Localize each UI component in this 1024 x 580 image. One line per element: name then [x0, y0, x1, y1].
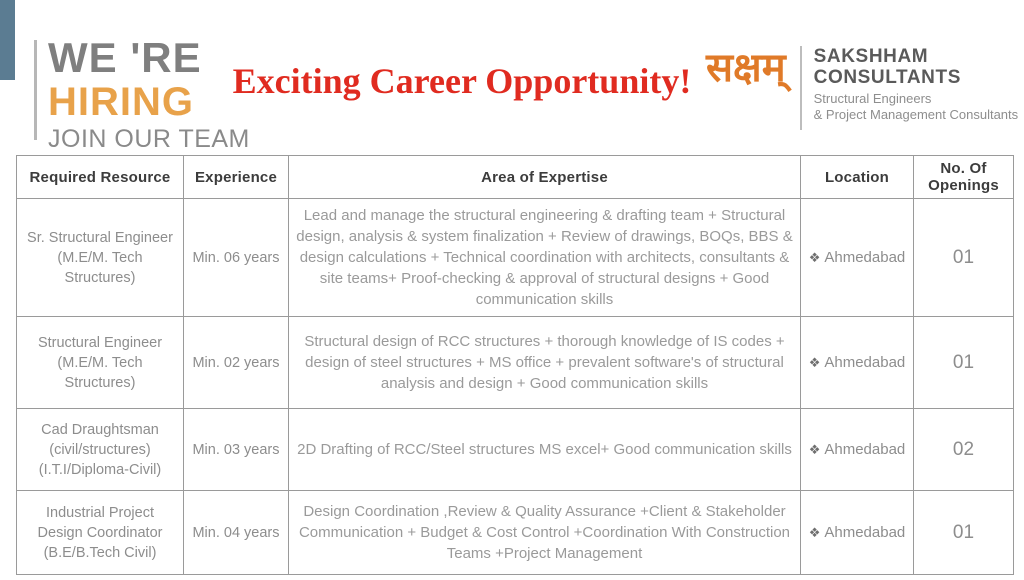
cell-location: ❖Ahmedabad: [801, 491, 914, 575]
diamond-bullet-icon: ❖: [809, 442, 821, 457]
table-header-row: Required Resource Experience Area of Exp…: [17, 156, 1014, 199]
table-row: Sr. Structural Engineer (M.E/M. Tech Str…: [17, 199, 1014, 317]
cell-location: ❖Ahmedabad: [801, 409, 914, 491]
company-name-line1: SAKSHHAM: [814, 46, 1019, 67]
banner-line-join-our-team: JOIN OUR TEAM: [48, 124, 334, 154]
cell-openings: 01: [914, 199, 1014, 317]
logo-text-block: SAKSHHAM CONSULTANTS Structural Engineer…: [814, 44, 1019, 123]
company-tagline-line1: Structural Engineers: [814, 91, 1019, 107]
column-header-location: Location: [801, 156, 914, 199]
cell-required-resource: Cad Draughtsman (civil/structures) (I.T.…: [17, 409, 184, 491]
column-header-area-of-expertise: Area of Expertise: [289, 156, 801, 199]
cell-required-resource: Industrial Project Design Coordinator (B…: [17, 491, 184, 575]
cell-openings: 02: [914, 409, 1014, 491]
diamond-bullet-icon: ❖: [809, 525, 821, 540]
column-header-no-of-openings: No. Of Openings: [914, 156, 1014, 199]
cell-openings: 01: [914, 491, 1014, 575]
column-header-experience: Experience: [184, 156, 289, 199]
company-tagline-line2: & Project Management Consultants: [814, 107, 1019, 123]
table-row: Industrial Project Design Coordinator (B…: [17, 491, 1014, 575]
company-logo: सक्षम् SAKSHHAM CONSULTANTS Structural E…: [706, 44, 1018, 130]
cell-location: ❖Ahmedabad: [801, 317, 914, 409]
cell-required-resource: Structural Engineer (M.E/M. Tech Structu…: [17, 317, 184, 409]
diamond-bullet-icon: ❖: [809, 355, 821, 370]
logo-divider: [800, 46, 802, 130]
cell-experience: Min. 02 years: [184, 317, 289, 409]
cell-required-resource: Sr. Structural Engineer (M.E/M. Tech Str…: [17, 199, 184, 317]
column-header-required-resource: Required Resource: [17, 156, 184, 199]
location-label: Ahmedabad: [824, 249, 905, 266]
cell-openings: 01: [914, 317, 1014, 409]
vacancies-table: Required Resource Experience Area of Exp…: [16, 155, 1014, 575]
cell-area-of-expertise: Lead and manage the structural engineeri…: [289, 199, 801, 317]
cell-area-of-expertise: 2D Drafting of RCC/Steel structures MS e…: [289, 409, 801, 491]
cell-location: ❖Ahmedabad: [801, 199, 914, 317]
decorative-blue-block: [0, 0, 15, 80]
location-label: Ahmedabad: [824, 354, 905, 371]
banner-vertical-rule: [34, 40, 37, 140]
location-label: Ahmedabad: [824, 441, 905, 458]
logo-devanagari-wordmark: सक्षम्: [706, 44, 800, 92]
cell-experience: Min. 03 years: [184, 409, 289, 491]
cell-experience: Min. 06 years: [184, 199, 289, 317]
page-title: Exciting Career Opportunity!: [212, 60, 712, 102]
table-row: Structural Engineer (M.E/M. Tech Structu…: [17, 317, 1014, 409]
cell-experience: Min. 04 years: [184, 491, 289, 575]
diamond-bullet-icon: ❖: [809, 250, 821, 265]
job-posting-page: WE 'RE HIRING JOIN OUR TEAM Exciting Car…: [0, 0, 1024, 580]
cell-area-of-expertise: Structural design of RCC structures + th…: [289, 317, 801, 409]
location-label: Ahmedabad: [824, 524, 905, 541]
cell-area-of-expertise: Design Coordination ,Review & Quality As…: [289, 491, 801, 575]
table-row: Cad Draughtsman (civil/structures) (I.T.…: [17, 409, 1014, 491]
company-name-line2: CONSULTANTS: [814, 67, 1019, 88]
